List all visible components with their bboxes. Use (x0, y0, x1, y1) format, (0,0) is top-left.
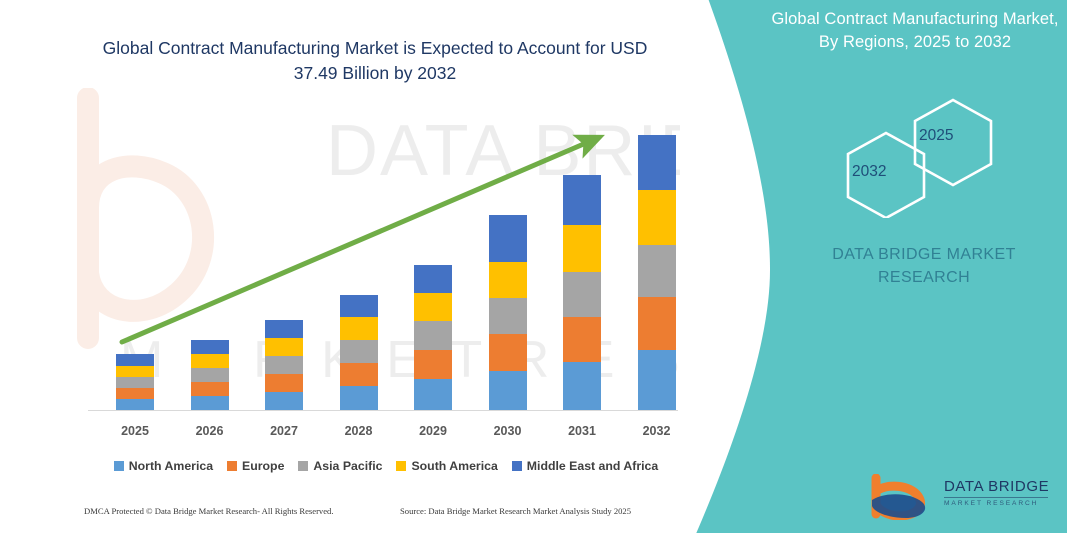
x-axis-label: 2025 (106, 424, 164, 438)
panel-brand: DATA BRIDGE MARKET RESEARCH (790, 243, 1058, 289)
x-axis-label: 2029 (404, 424, 462, 438)
logo-text: DATA BRIDGE MARKET RESEARCH (944, 479, 1054, 507)
x-axis-label: 2026 (181, 424, 239, 438)
legend-label: Asia Pacific (313, 459, 382, 473)
legend-swatch (512, 461, 522, 471)
legend-swatch (298, 461, 308, 471)
hex-badge-group: 2025 2032 (818, 88, 1018, 218)
chart-legend: North AmericaEuropeAsia PacificSouth Ame… (96, 456, 676, 476)
legend-label: North America (129, 459, 213, 473)
x-axis-labels: 20252026202720282029203020312032 (0, 424, 720, 444)
legend-label: South America (411, 459, 497, 473)
x-axis-label: 2030 (479, 424, 537, 438)
legend-swatch (396, 461, 406, 471)
hex-badge-2025: 2025 (919, 127, 953, 145)
legend-swatch (114, 461, 124, 471)
legend-label: Europe (242, 459, 284, 473)
logo-divider (944, 497, 1048, 498)
hex-badge-2032: 2032 (852, 163, 886, 181)
legend-item: Europe (227, 459, 284, 473)
x-axis-label: 2028 (330, 424, 388, 438)
legend-label: Middle East and Africa (527, 459, 658, 473)
legend-item: Middle East and Africa (512, 459, 658, 473)
x-axis-label: 2032 (628, 424, 686, 438)
panel-brand-line1: DATA BRIDGE MARKET (790, 243, 1058, 266)
x-axis-label: 2027 (255, 424, 313, 438)
panel-title: Global Contract Manufacturing Market, By… (770, 8, 1060, 54)
x-axis-label: 2031 (553, 424, 611, 438)
legend-item: South America (396, 459, 497, 473)
legend-item: Asia Pacific (298, 459, 382, 473)
legend-swatch (227, 461, 237, 471)
infographic-canvas: DATA BRIDGE M A R K E T R E S E A R C H … (0, 0, 1067, 533)
panel-brand-line2: RESEARCH (790, 266, 1058, 289)
hex-badge-shapes (818, 88, 1018, 218)
footer: DMCA Protected © Data Bridge Market Rese… (0, 506, 720, 526)
footer-source: Source: Data Bridge Market Research Mark… (400, 506, 631, 516)
logo-name: DATA BRIDGE (944, 479, 1054, 495)
legend-item: North America (114, 459, 213, 473)
footer-copyright: DMCA Protected © Data Bridge Market Rese… (84, 506, 334, 516)
x-axis-line (88, 410, 678, 411)
logo-tagline: MARKET RESEARCH (944, 500, 1054, 507)
growth-arrow (70, 100, 690, 450)
